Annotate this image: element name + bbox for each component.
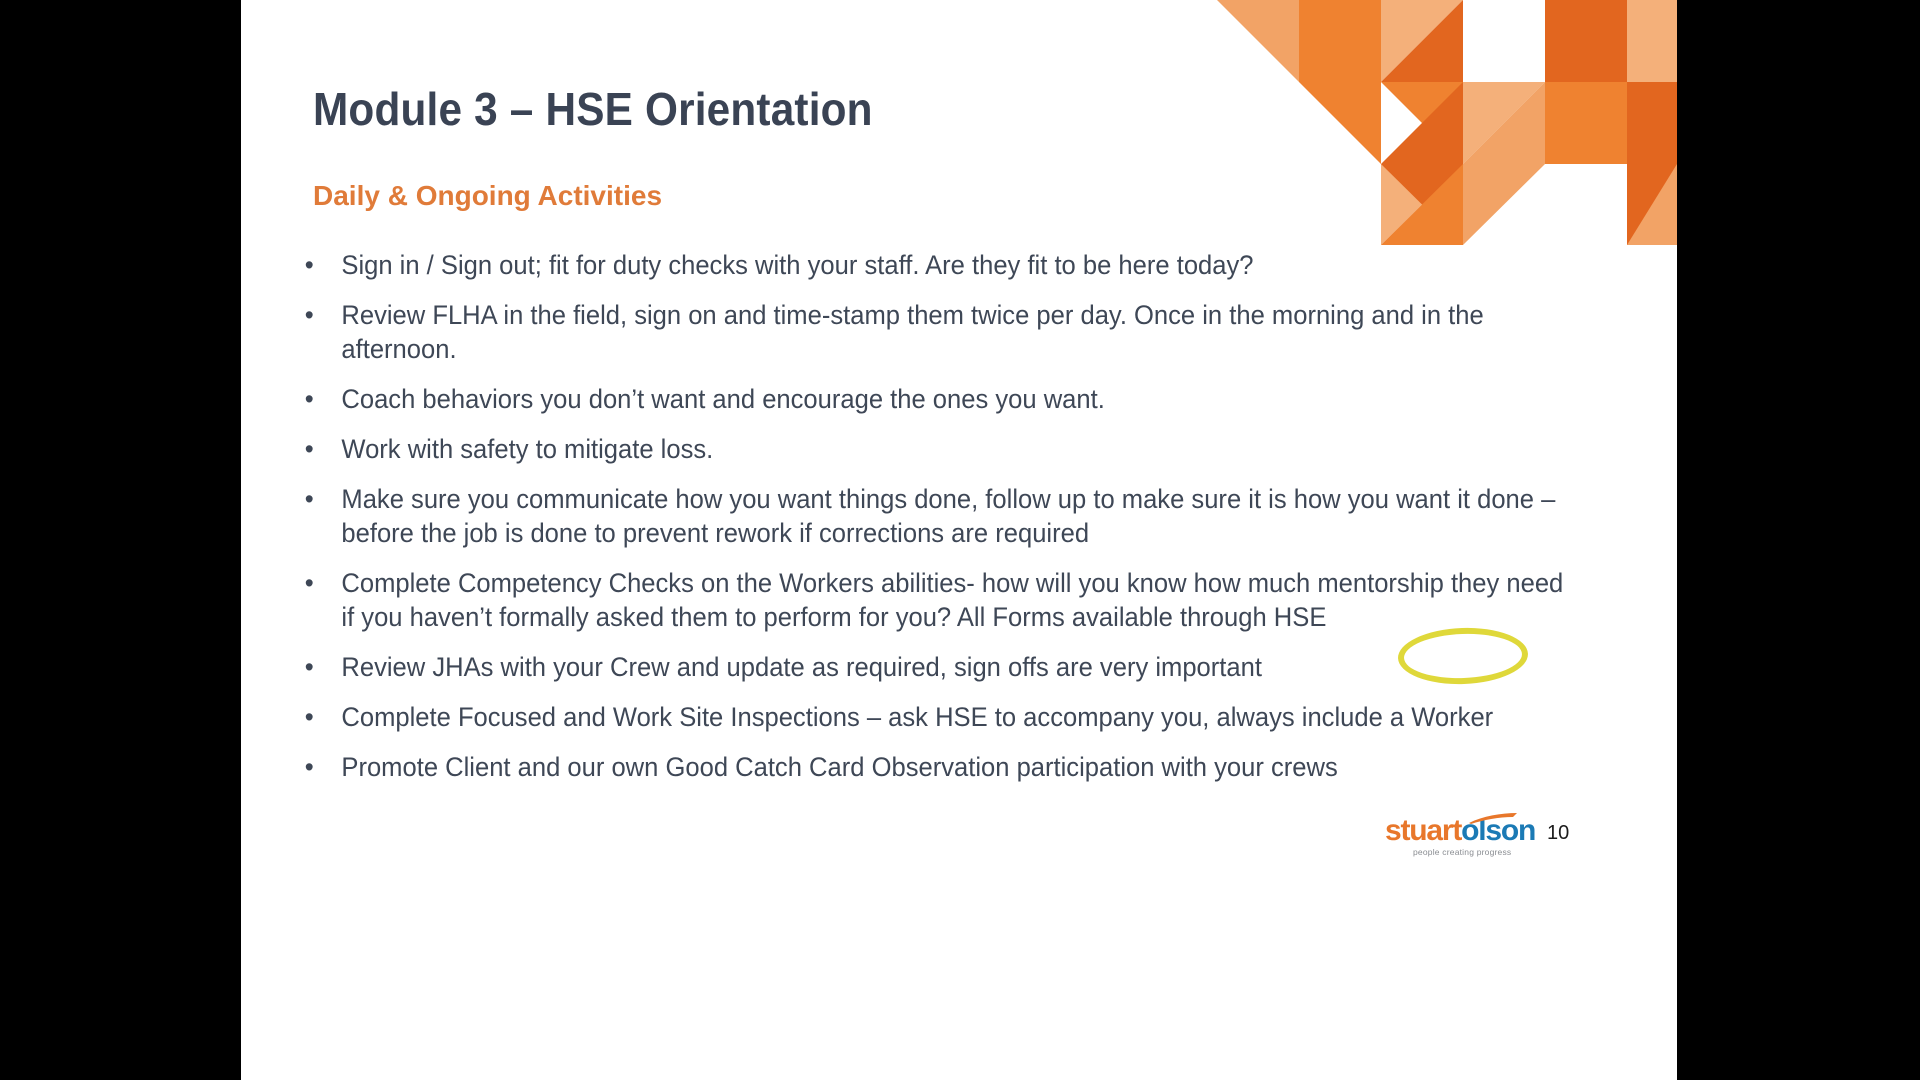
list-item-text: Work with safety to mitigate loss. [341,432,1570,466]
bullet-marker-icon: • [305,566,314,600]
logo-word-second: olson [1461,814,1535,847]
triangle-pattern-decoration [1217,0,1677,245]
bullet-marker-icon: • [305,432,314,466]
screenshot-viewport: Module 3 – HSE Orientation Daily & Ongoi… [0,0,1920,1080]
list-item-text: Review FLHA in the field, sign on and ti… [341,298,1570,366]
list-item: • Sign in / Sign out; fit for duty check… [297,248,1571,282]
list-item: • Review FLHA in the field, sign on and … [297,298,1571,366]
slide-subtitle: Daily & Ongoing Activities [313,180,662,212]
bullet-marker-icon: • [305,298,314,332]
bullet-marker-icon: • [305,750,314,784]
list-item-text: Promote Client and our own Good Catch Ca… [341,750,1570,784]
list-item: • Work with safety to mitigate loss. [297,432,1571,466]
presentation-slide: Module 3 – HSE Orientation Daily & Ongoi… [241,0,1677,1080]
list-item-text: Complete Focused and Work Site Inspectio… [341,700,1570,734]
list-item: • Make sure you communicate how you want… [297,482,1571,550]
bullet-marker-icon: • [305,700,314,734]
list-item-text: Complete Competency Checks on the Worker… [341,566,1570,634]
logo-wordmark: stuartolson [1385,816,1527,846]
bullet-list: • Sign in / Sign out; fit for duty check… [297,248,1617,800]
list-item-text: Make sure you communicate how you want t… [341,482,1570,550]
list-item: • Coach behaviors you don’t want and enc… [297,382,1571,416]
stuart-olson-logo: stuartolson people creating progress [1385,816,1527,856]
page-number: 10 [1547,822,1569,845]
list-item: • Promote Client and our own Good Catch … [297,750,1571,784]
bullet-marker-icon: • [305,482,314,516]
list-item-text: Coach behaviors you don’t want and encou… [341,382,1570,416]
slide-title: Module 3 – HSE Orientation [313,82,873,136]
bullet-marker-icon: • [305,248,314,282]
list-item-text: Review JHAs with your Crew and update as… [341,650,1570,684]
bullet-marker-icon: • [305,382,314,416]
bullet-marker-icon: • [305,650,314,684]
list-item: • Review JHAs with your Crew and update … [297,650,1571,684]
list-item: • Complete Competency Checks on the Work… [297,566,1571,634]
logo-word-first: stuart [1385,814,1461,847]
list-item-text: Sign in / Sign out; fit for duty checks … [341,248,1570,282]
logo-tagline: people creating progress [1413,847,1527,857]
list-item: • Complete Focused and Work Site Inspect… [297,700,1571,734]
